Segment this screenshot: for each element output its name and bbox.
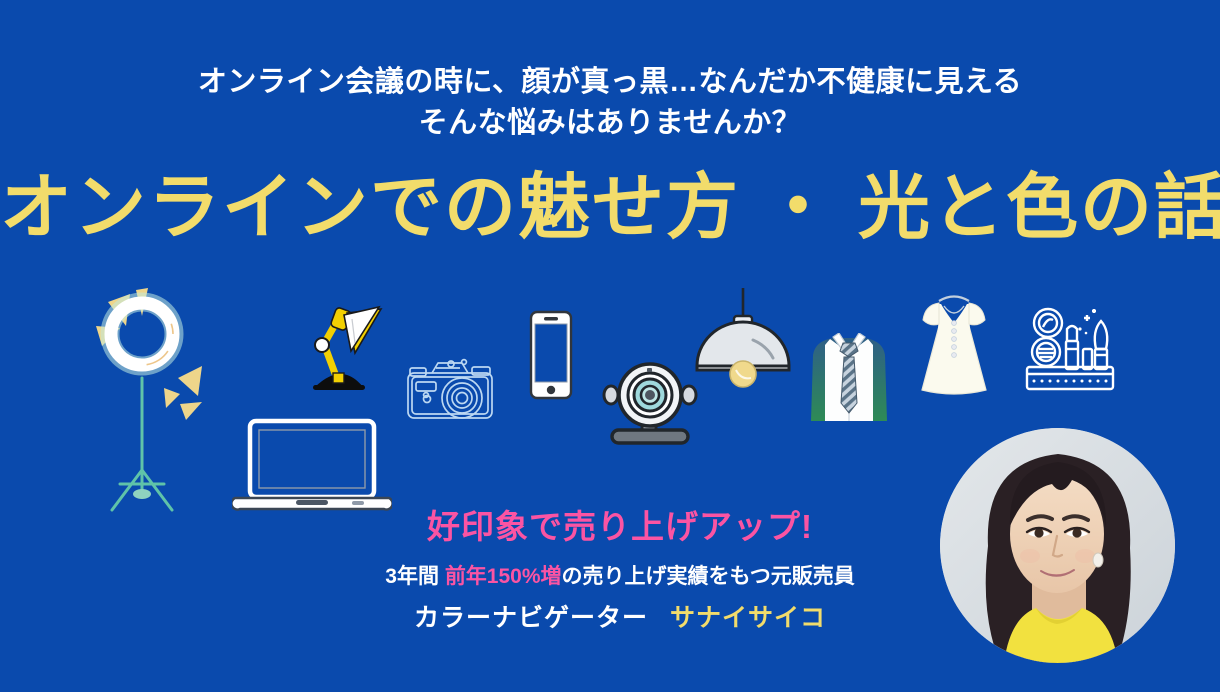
poster-root: オンライン会議の時に、顔が真っ黒…なんだか不健康に見える そんな悩みはありません… [0,0,1220,692]
page-title: オンラインでの魅せ方 ・ 光と色の話 [0,172,1220,244]
avatar [940,428,1175,663]
smartphone-icon [529,310,573,405]
byline-name: サナイサイコ [670,604,826,632]
credentials-highlight: 前年150%増 [445,565,562,588]
subtitle-line-2: そんな悩みはありませんか？ [0,103,1220,144]
credentials-line: 3年間 前年150%増の売り上げ実績をもつ元販売員 [275,560,965,590]
camera-icon [404,352,504,439]
subtitle-block: オンライン会議の時に、顔が真っ黒…なんだか不健康に見える そんな悩みはありません… [0,62,1220,144]
byline-role: カラーナビゲーター [414,604,648,632]
pendant-lamp-icon [683,288,803,398]
shirt-tie-icon [799,333,899,426]
credentials-suffix: の売り上げ実績をもつ元販売員 [562,565,855,588]
desk-lamp-icon [297,297,397,397]
ring-light-icon [86,282,226,517]
byline: カラーナビゲーターサナイサイコ [275,598,965,634]
tagline: 好印象で売り上げアップ! [275,500,965,548]
cosmetics-icon [1022,305,1118,398]
credentials-prefix: 3年間 [385,565,445,588]
dress-icon [912,290,996,403]
subtitle-line-1: オンライン会議の時に、顔が真っ黒…なんだか不健康に見える [0,62,1220,103]
